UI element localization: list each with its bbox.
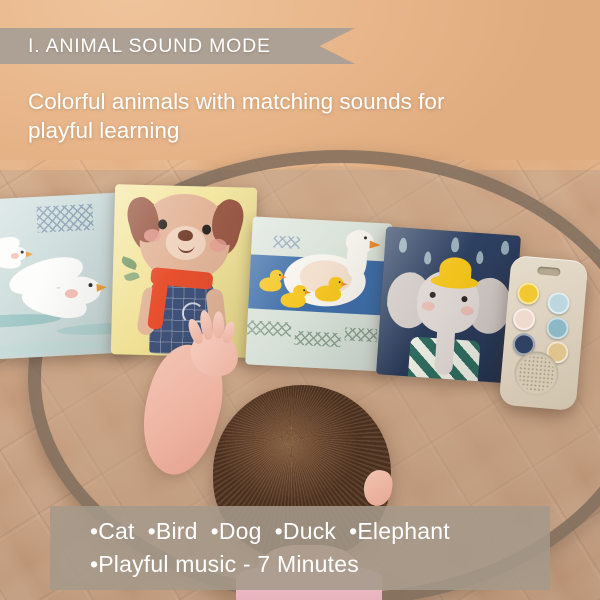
duckling-3 <box>315 276 344 303</box>
raindrop <box>501 241 510 256</box>
caption-line-music: •Playful music - 7 Minutes <box>90 548 550 581</box>
duckling-2 <box>280 284 309 309</box>
caption-animal-bird: •Bird <box>148 518 198 544</box>
cross-stitch-pattern <box>36 204 93 233</box>
caption-animal-duck: •Duck <box>275 518 336 544</box>
section-banner: I. ANIMAL SOUND MODE <box>0 28 355 64</box>
caption-animal-dog: •Dog <box>211 518 262 544</box>
caption-animal-elephant: •Elephant <box>349 518 450 544</box>
duck-button[interactable] <box>546 316 570 340</box>
dog-button[interactable] <box>512 307 536 331</box>
caption-animal-cat: •Cat <box>90 518 135 544</box>
cross-stitch-pattern <box>345 327 378 342</box>
book-panel-elephant <box>376 226 521 383</box>
bird-large <box>7 257 117 334</box>
raindrop <box>476 251 484 264</box>
hanging-loop-slot <box>537 266 561 276</box>
book-panel-duck <box>245 216 393 371</box>
cross-stitch-pattern <box>247 320 292 336</box>
cat-button[interactable] <box>516 282 540 306</box>
leaf-decoration <box>120 256 138 270</box>
subtitle-line-1: Colorful animals with matching sounds fo… <box>28 88 533 117</box>
cross-stitch-pattern <box>294 331 341 347</box>
raindrop <box>451 237 460 253</box>
caption-line-animals: •Cat•Bird•Dog•Duck•Elephant <box>90 515 550 548</box>
bird-button[interactable] <box>547 291 571 315</box>
cross-stitch-pattern <box>273 236 300 249</box>
raindrop <box>399 237 408 253</box>
feature-caption-bar: •Cat•Bird•Dog•Duck•Elephant •Playful mus… <box>50 506 550 590</box>
section-banner-label: I. ANIMAL SOUND MODE <box>0 35 271 58</box>
subtitle-line-2: playful learning <box>28 117 533 146</box>
book-panel-dog <box>111 184 257 358</box>
sound-module[interactable] <box>499 255 589 411</box>
raindrop <box>424 251 432 264</box>
subtitle: Colorful animals with matching sounds fo… <box>28 88 533 145</box>
product-feature-image: I. ANIMAL SOUND MODE Colorful animals wi… <box>0 0 600 600</box>
leaf-decoration <box>124 270 140 283</box>
swan-beak <box>369 241 380 250</box>
elephant-hat <box>439 256 473 282</box>
